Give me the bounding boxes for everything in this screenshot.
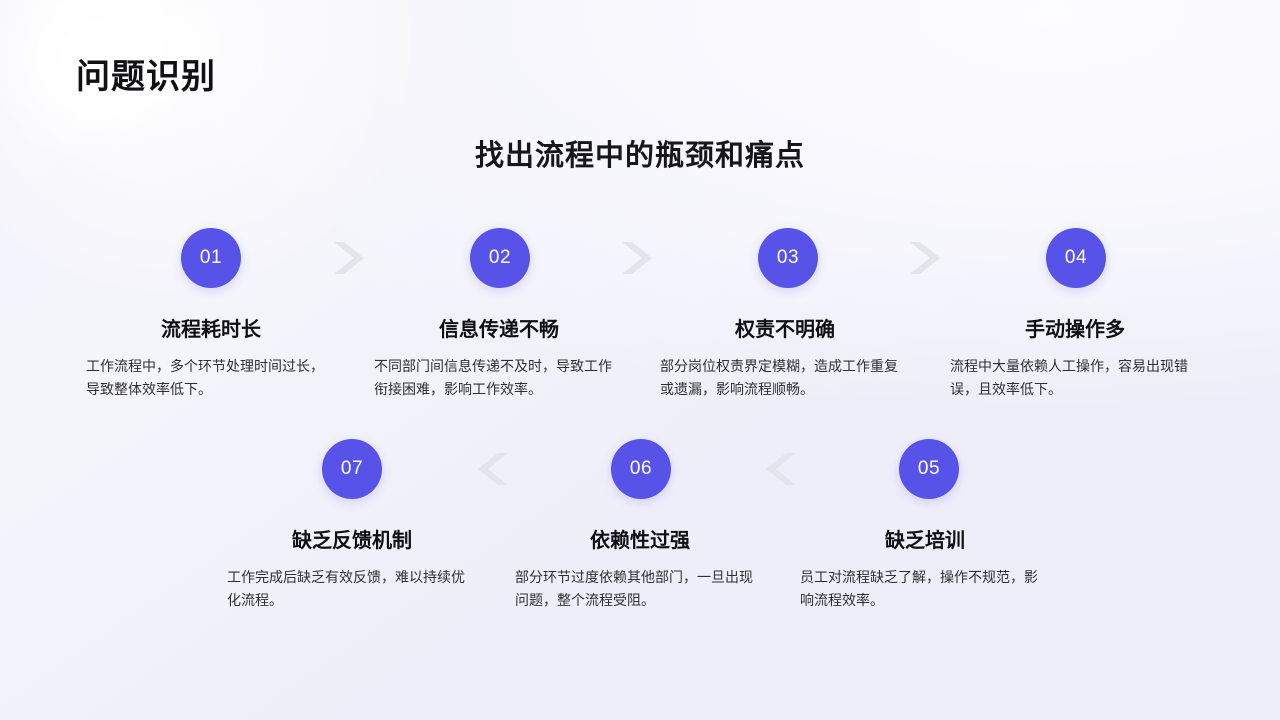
step-item-07: 缺乏反馈机制 工作完成后缺乏有效反馈，难以持续优化流程。 (227, 529, 477, 611)
step-number-05: 05 (918, 458, 940, 480)
step-desc-02: 不同部门间信息传递不及时，导致工作衔接困难，影响工作效率。 (374, 355, 624, 400)
step-number-01: 01 (200, 247, 222, 269)
page-title: 问题识别 (76, 58, 216, 97)
step-heading-01: 流程耗时长 (86, 318, 336, 343)
chevron-right-icon (330, 238, 364, 278)
step-heading-02: 信息传递不畅 (374, 318, 624, 343)
slide-canvas: 问题识别 找出流程中的瓶颈和痛点 01 02 03 04 流程耗时长 工作流程中… (0, 0, 1280, 720)
step-badge-01[interactable]: 01 (181, 228, 241, 288)
step-item-01: 流程耗时长 工作流程中，多个环节处理时间过长，导致整体效率低下。 (86, 318, 336, 400)
step-desc-06: 部分环节过度依赖其他部门，一旦出现问题，整个流程受阻。 (515, 566, 765, 611)
chevron-left-icon (766, 449, 800, 489)
step-desc-01: 工作流程中，多个环节处理时间过长，导致整体效率低下。 (86, 355, 336, 400)
step-desc-04: 流程中大量依赖人工操作，容易出现错误，且效率低下。 (950, 355, 1200, 400)
chevron-right-icon (618, 238, 652, 278)
step-item-03: 权责不明确 部分岗位权责界定模糊，造成工作重复或遗漏，影响流程顺畅。 (660, 318, 910, 400)
step-heading-05: 缺乏培训 (800, 529, 1050, 554)
step-badge-02[interactable]: 02 (470, 228, 530, 288)
step-badge-04[interactable]: 04 (1046, 228, 1106, 288)
step-number-02: 02 (489, 247, 511, 269)
step-number-06: 06 (630, 458, 652, 480)
step-heading-06: 依赖性过强 (515, 529, 765, 554)
step-number-04: 04 (1065, 247, 1087, 269)
step-number-07: 07 (341, 458, 363, 480)
step-item-04: 手动操作多 流程中大量依赖人工操作，容易出现错误，且效率低下。 (950, 318, 1200, 400)
step-desc-03: 部分岗位权责界定模糊，造成工作重复或遗漏，影响流程顺畅。 (660, 355, 910, 400)
step-item-06: 依赖性过强 部分环节过度依赖其他部门，一旦出现问题，整个流程受阻。 (515, 529, 765, 611)
chevron-right-icon (906, 238, 940, 278)
step-desc-07: 工作完成后缺乏有效反馈，难以持续优化流程。 (227, 566, 477, 611)
step-badge-03[interactable]: 03 (758, 228, 818, 288)
step-heading-04: 手动操作多 (950, 318, 1200, 343)
step-number-03: 03 (777, 247, 799, 269)
step-item-02: 信息传递不畅 不同部门间信息传递不及时，导致工作衔接困难，影响工作效率。 (374, 318, 624, 400)
section-subtitle: 找出流程中的瓶颈和痛点 (0, 132, 1280, 174)
step-heading-07: 缺乏反馈机制 (227, 529, 477, 554)
step-badge-06[interactable]: 06 (611, 439, 671, 499)
step-badge-05[interactable]: 05 (899, 439, 959, 499)
step-item-05: 缺乏培训 员工对流程缺乏了解，操作不规范，影响流程效率。 (800, 529, 1050, 611)
chevron-left-icon (478, 449, 512, 489)
step-badge-07[interactable]: 07 (322, 439, 382, 499)
step-desc-05: 员工对流程缺乏了解，操作不规范，影响流程效率。 (800, 566, 1050, 611)
step-heading-03: 权责不明确 (660, 318, 910, 343)
